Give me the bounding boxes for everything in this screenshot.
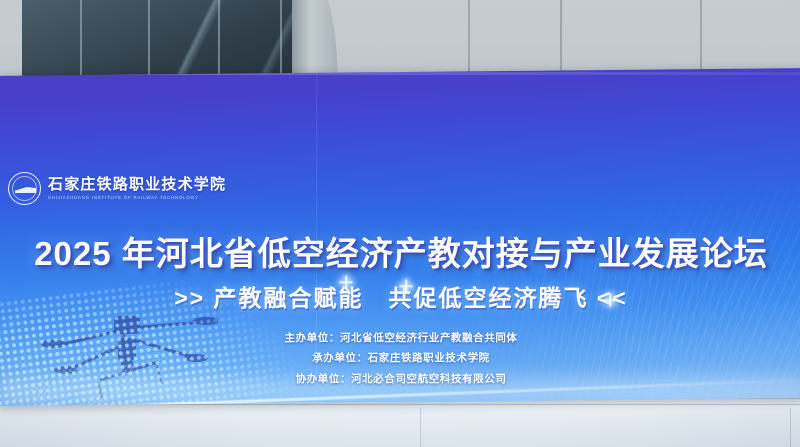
organizer-line: 主办单位：河北省低空经济行业产教融合共同体 <box>0 328 800 348</box>
organizer-list: 主办单位：河北省低空经济行业产教融合共同体 承办单位：石家庄铁路职业技术学院 协… <box>0 328 800 389</box>
floor-seam <box>420 408 421 447</box>
institute-name-cn: 石家庄铁路职业技术学院 <box>48 177 226 193</box>
floor-base <box>0 399 800 447</box>
banner-subtitle: >> 产教融合赋能 共促低空经济腾飞 << <box>0 279 800 313</box>
organizer-line: 承办单位：石家庄铁路职业技术学院 <box>0 348 800 368</box>
institute-name-en: SHIJIAZHUANG INSTITUTE OF RAILWAY TECHNO… <box>48 195 226 201</box>
conference-banner: 石家庄铁路职业技术学院 SHIJIAZHUANG INSTITUTE OF RA… <box>0 68 800 406</box>
floor-seam <box>790 408 791 447</box>
institute-logo: 石家庄铁路职业技术学院 SHIJIAZHUANG INSTITUTE OF RA… <box>8 172 226 205</box>
institute-emblem-icon <box>8 172 41 205</box>
screenshot-scene: 石家庄铁路职业技术学院 SHIJIAZHUANG INSTITUTE OF RA… <box>0 0 800 447</box>
organizer-line: 协办单位：河北必合司空航空科技有限公司 <box>0 369 800 389</box>
banner-main-title: 2025 年河北省低空经济产教对接与产业发展论坛 <box>0 227 800 275</box>
